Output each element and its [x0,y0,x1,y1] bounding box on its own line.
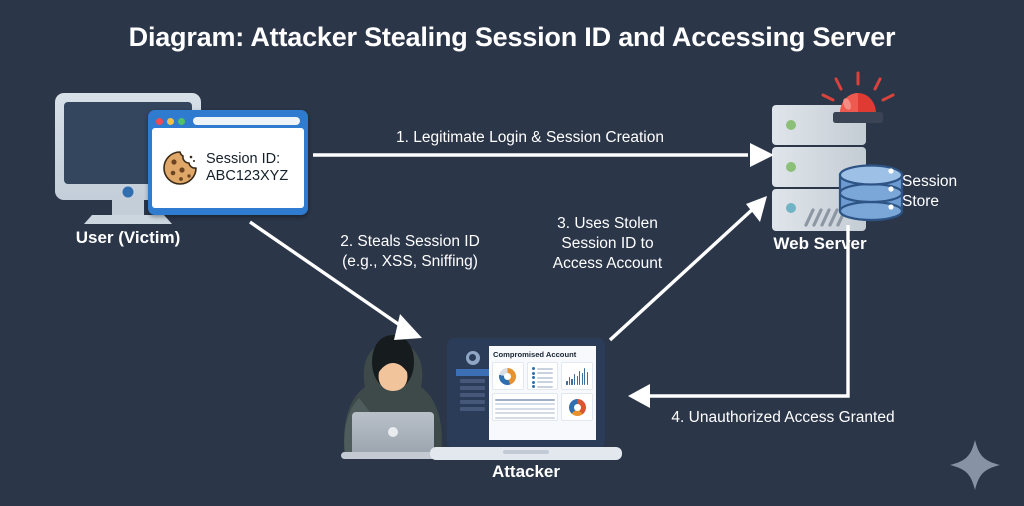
browser-content: Session ID: ABC123XYZ [152,128,304,208]
session-id-text: Session ID: ABC123XYZ [206,151,288,186]
session-store-label: Session Store [902,172,957,212]
donut-chart-card [492,362,524,390]
user-node-label: User (Victim) [55,228,201,248]
bar-chart-card [561,362,593,390]
sidebar-item-active[interactable] [456,369,489,376]
sidebar-item[interactable] [460,379,485,383]
arrow-3-label: 3. Uses Stolen Session ID to Access Acco… [520,214,695,273]
sidebar-item[interactable] [460,400,485,404]
hacker-laptop-icon [341,412,445,459]
browser-titlebar [152,114,304,128]
close-icon[interactable] [156,118,163,125]
server-node-label: Web Server [760,234,880,254]
arrow-1-label: 1. Legitimate Login & Session Creation [330,128,730,148]
dashboard-main: Compromised Account [489,346,596,440]
alarm-light-icon [823,73,893,123]
dashboard-heading: Compromised Account [493,350,593,359]
attacker-node-label: Attacker [456,462,596,482]
sidebar-item[interactable] [460,407,485,411]
cookie-icon [160,148,200,188]
compromised-dashboard[interactable]: Compromised Account [456,346,596,440]
donut-chart-icon [499,368,516,385]
arrow-4-label: 4. Unauthorized Access Granted [648,408,918,428]
list-card [527,362,559,390]
donut-chart-icon-2 [569,399,586,416]
arrow-2-label: 2. Steals Session ID (e.g., XSS, Sniffin… [300,232,520,272]
dashboard-sidebar[interactable] [456,346,489,440]
user-avatar-icon [466,351,480,365]
maximize-icon[interactable] [178,118,185,125]
database-icon [840,166,902,221]
address-bar[interactable] [193,117,300,125]
donut-chart-card-2 [561,393,593,421]
sparkle-star-icon [950,440,1000,490]
sidebar-item[interactable] [460,386,485,390]
table-card [492,393,558,421]
minimize-icon[interactable] [167,118,174,125]
browser-window[interactable]: Session ID: ABC123XYZ [148,110,308,215]
dashboard-card-grid [492,362,593,421]
sidebar-item[interactable] [460,393,485,397]
diagram-canvas: Diagram: Attacker Stealing Session ID an… [0,0,1024,506]
bar-chart-icon [564,365,590,385]
